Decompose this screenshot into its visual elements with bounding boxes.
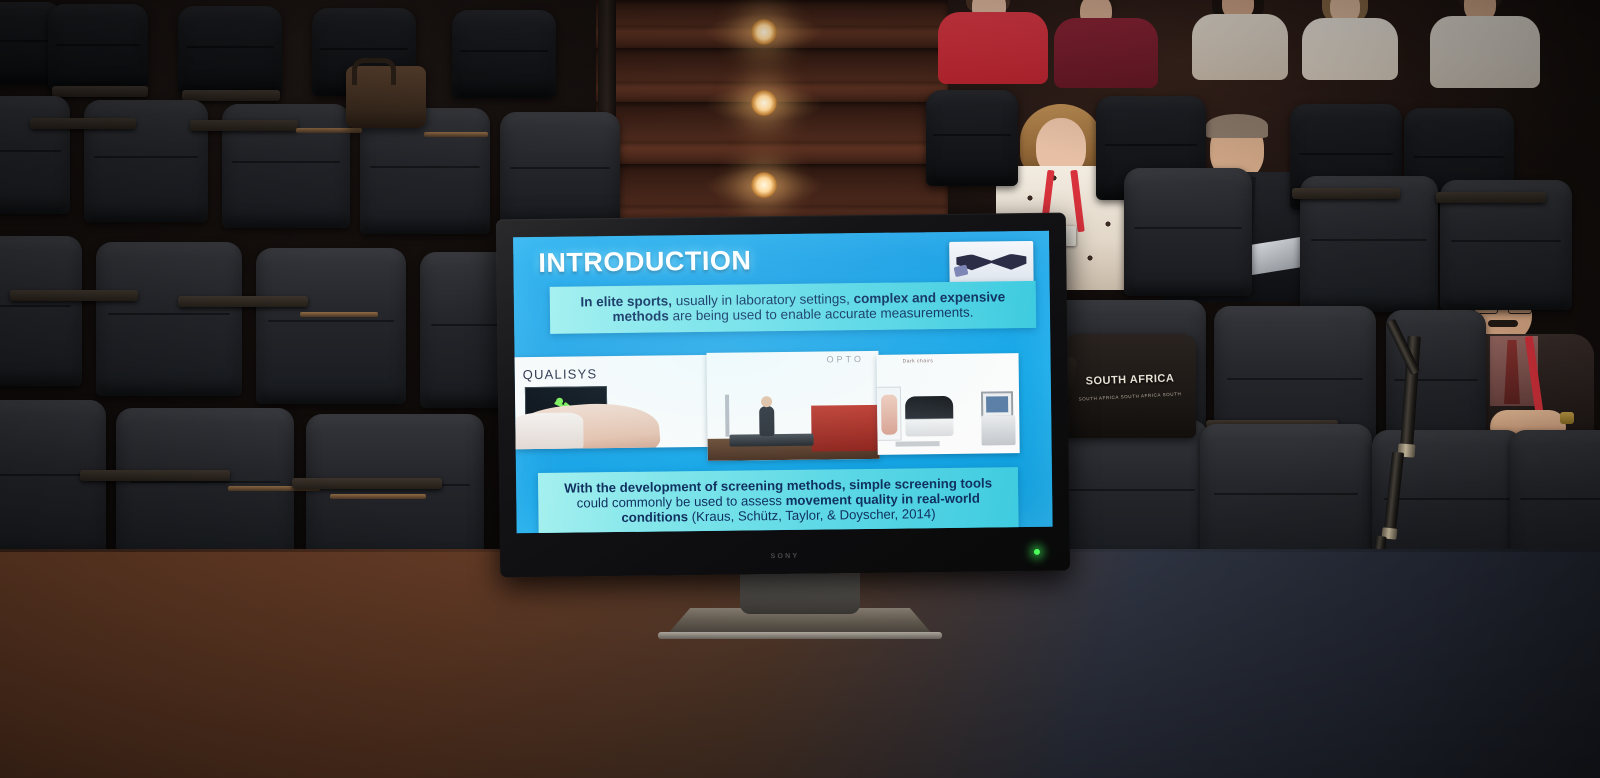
textbox-segment: are being used to enable accurate measur… [669,305,974,324]
auditorium-scene: SOUTH AFRICA SOUTH AFRICA SOUTH AFRICA S… [0,0,1600,778]
wristwatch [1560,412,1574,424]
seat [0,96,70,214]
seat [500,112,620,232]
step-light-3 [751,172,777,198]
tv-power-led [1034,549,1040,555]
slide-title: INTRODUCTION [538,245,751,279]
step-light-2 [751,90,777,116]
clinical-equipment-photo: Dark chairs [877,353,1020,455]
mustache [1488,320,1518,327]
stairway [596,0,948,225]
tv-stand-base-lip [658,632,942,639]
seat [0,236,82,386]
presentation-slide: INTRODUCTION In elite sports, usually in… [513,231,1053,534]
seat [306,414,484,566]
seat [1124,168,1252,296]
tv-screen[interactable]: INTRODUCTION In elite sports, usually in… [513,231,1053,534]
tv-brand-label: SONY [771,553,800,560]
step-light-1 [751,19,777,45]
south-africa-bag: SOUTH AFRICA SOUTH AFRICA SOUTH AFRICA S… [1064,334,1196,438]
slide-conclusion-textbox: With the development of screening method… [538,467,1019,533]
slide-intro-textbox: In elite sports, usually in laboratory s… [550,281,1037,334]
opto-logo: OPTO [827,354,864,364]
seat [96,242,242,396]
lab-equipment-photo-strip: QUALISYS [515,351,1020,465]
bag-label: SOUTH AFRICA [1064,371,1196,388]
clinic-photo-label: Dark chairs [903,358,934,364]
qualisys-logo: QUALISYS [523,366,598,382]
qualisys-motion-capture-photo: QUALISYS [515,355,712,449]
bag-sublabel: SOUTH AFRICA SOUTH AFRICA SOUTH [1064,391,1196,403]
textbox-segment: In elite sports, [580,293,672,309]
seat [256,248,406,404]
tv-stand-neck [740,568,860,614]
slide-citation: (Kraus, Schütz, Taylor, & Doyscher, 2014… [688,506,936,524]
sony-television[interactable]: INTRODUCTION In elite sports, usually in… [496,213,1070,578]
device-strap-logo-icon [949,241,1034,284]
opto-treadmill-photo: OPTO [706,351,879,461]
